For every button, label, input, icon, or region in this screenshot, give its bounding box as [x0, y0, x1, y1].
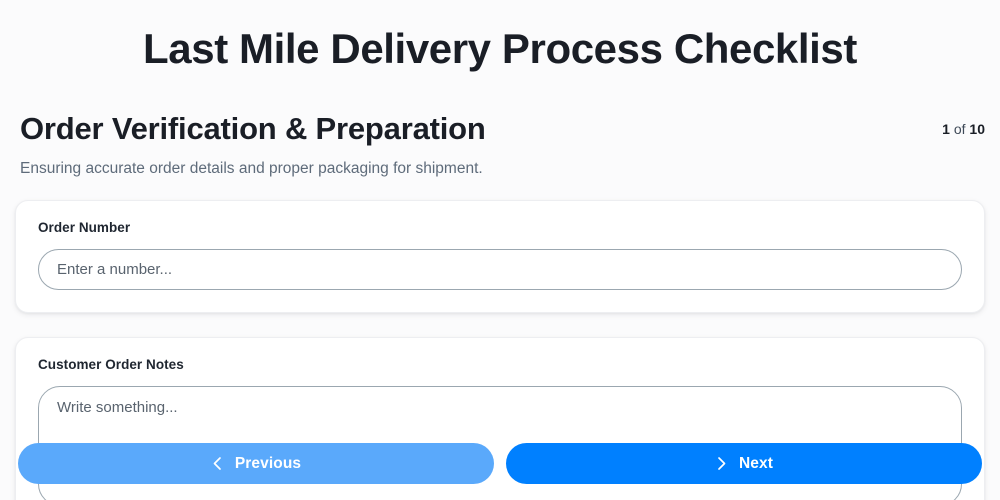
checklist-page: Last Mile Delivery Process Checklist Ord… — [0, 0, 1000, 500]
previous-button[interactable]: Previous — [18, 443, 494, 484]
section-description: Ensuring accurate order details and prop… — [20, 159, 486, 179]
step-counter: 1 of 10 — [942, 110, 988, 137]
step-total: 10 — [969, 121, 985, 137]
field-label-customer-order-notes: Customer Order Notes — [38, 357, 962, 372]
next-button-label: Next — [739, 455, 773, 473]
field-card-order-number: Order Number — [15, 200, 985, 313]
section-header-text: Order Verification & Preparation Ensurin… — [20, 110, 486, 180]
page-title: Last Mile Delivery Process Checklist — [0, 0, 1000, 74]
section-title: Order Verification & Preparation — [20, 110, 486, 148]
step-of-label: of — [954, 121, 966, 137]
step-current: 1 — [942, 121, 950, 137]
order-number-input[interactable] — [38, 249, 962, 290]
section-header: Order Verification & Preparation Ensurin… — [0, 110, 1000, 180]
chevron-left-icon — [211, 456, 224, 471]
next-button[interactable]: Next — [506, 443, 982, 484]
field-label-order-number: Order Number — [38, 220, 962, 235]
navigation-bar: Previous Next — [0, 443, 1000, 484]
previous-button-label: Previous — [235, 455, 301, 473]
chevron-right-icon — [715, 456, 728, 471]
